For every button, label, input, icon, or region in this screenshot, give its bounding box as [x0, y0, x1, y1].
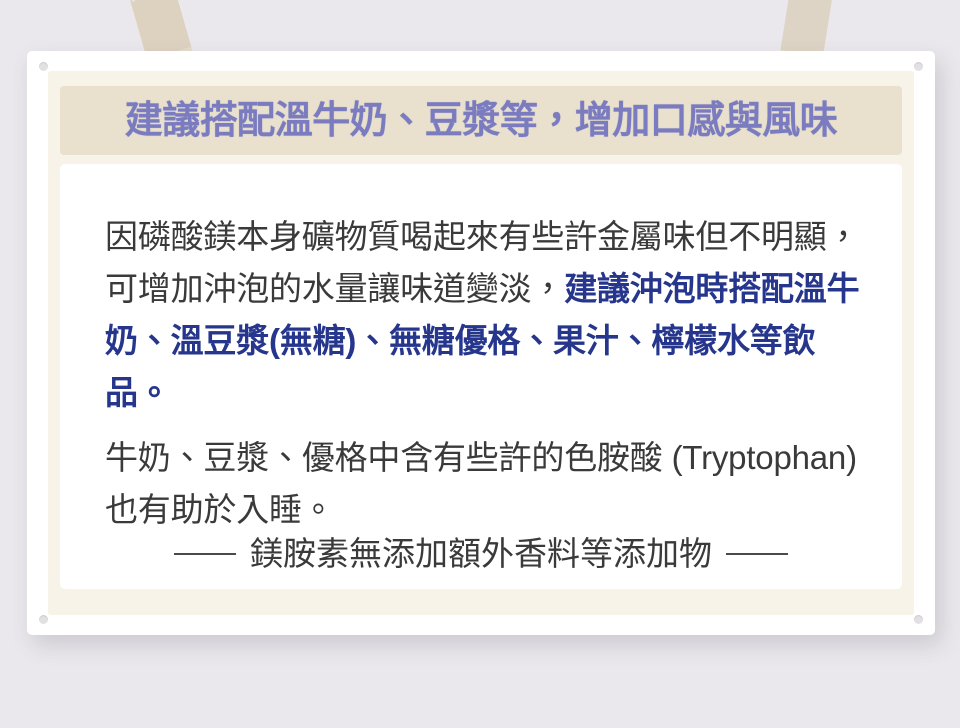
footer-dash-right-icon: [726, 553, 788, 555]
info-card: 建議搭配溫牛奶、豆漿等，增加口感與風味 因磷酸鎂本身礦物質喝起來有些許金屬味但不…: [27, 51, 935, 635]
corner-dot-top-left-icon: [39, 62, 48, 71]
paragraph-two-text: 牛奶、豆漿、優格中含有些許的色胺酸 (Tryptophan) 也有助於入睡。: [105, 439, 857, 528]
page-title: 建議搭配溫牛奶、豆漿等，增加口感與風味: [125, 102, 838, 140]
content-panel: 因磷酸鎂本身礦物質喝起來有些許金屬味但不明顯，可增加沖泡的水量讓味道變淡，建議沖…: [60, 164, 902, 589]
footer-tagline: 鎂胺素無添加額外香料等添加物: [60, 534, 902, 574]
poster-stage: 建議搭配溫牛奶、豆漿等，增加口感與風味 因磷酸鎂本身礦物質喝起來有些許金屬味但不…: [0, 0, 960, 728]
paragraph-one: 因磷酸鎂本身礦物質喝起來有些許金屬味但不明顯，可增加沖泡的水量讓味道變淡，建議沖…: [105, 211, 880, 419]
corner-dot-bottom-right-icon: [914, 615, 923, 624]
corner-dot-top-right-icon: [914, 62, 923, 71]
corner-dot-bottom-left-icon: [39, 615, 48, 624]
footer-dash-left-icon: [174, 553, 236, 555]
footer-tagline-text: 鎂胺素無添加額外香料等添加物: [250, 534, 712, 574]
paragraph-two: 牛奶、豆漿、優格中含有些許的色胺酸 (Tryptophan) 也有助於入睡。: [105, 432, 880, 536]
header-band: 建議搭配溫牛奶、豆漿等，增加口感與風味: [60, 86, 902, 155]
